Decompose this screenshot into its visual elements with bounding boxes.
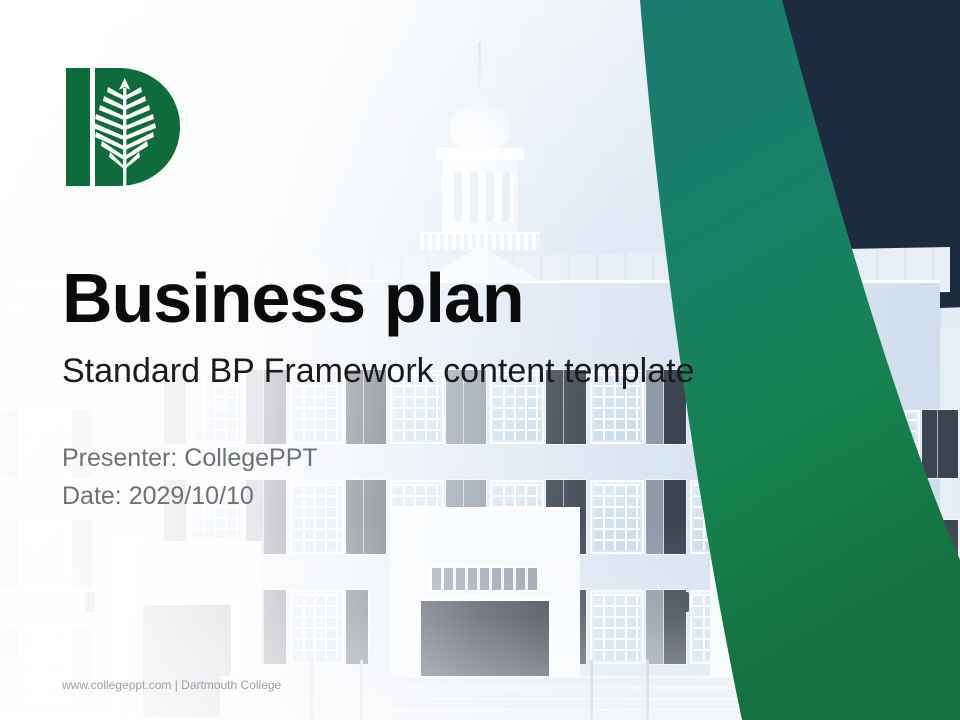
presenter-line: Presenter: CollegePPT <box>62 444 318 473</box>
slide-title: Business plan <box>62 258 524 338</box>
presentation-slide: 17 84 <box>0 0 960 720</box>
slide-subtitle: Standard BP Framework content template <box>62 352 694 391</box>
slide-footer: www.collegeppt.com | Dartmouth College <box>62 678 281 692</box>
date-line: Date: 2029/10/10 <box>62 482 254 511</box>
dartmouth-logo <box>62 62 184 192</box>
